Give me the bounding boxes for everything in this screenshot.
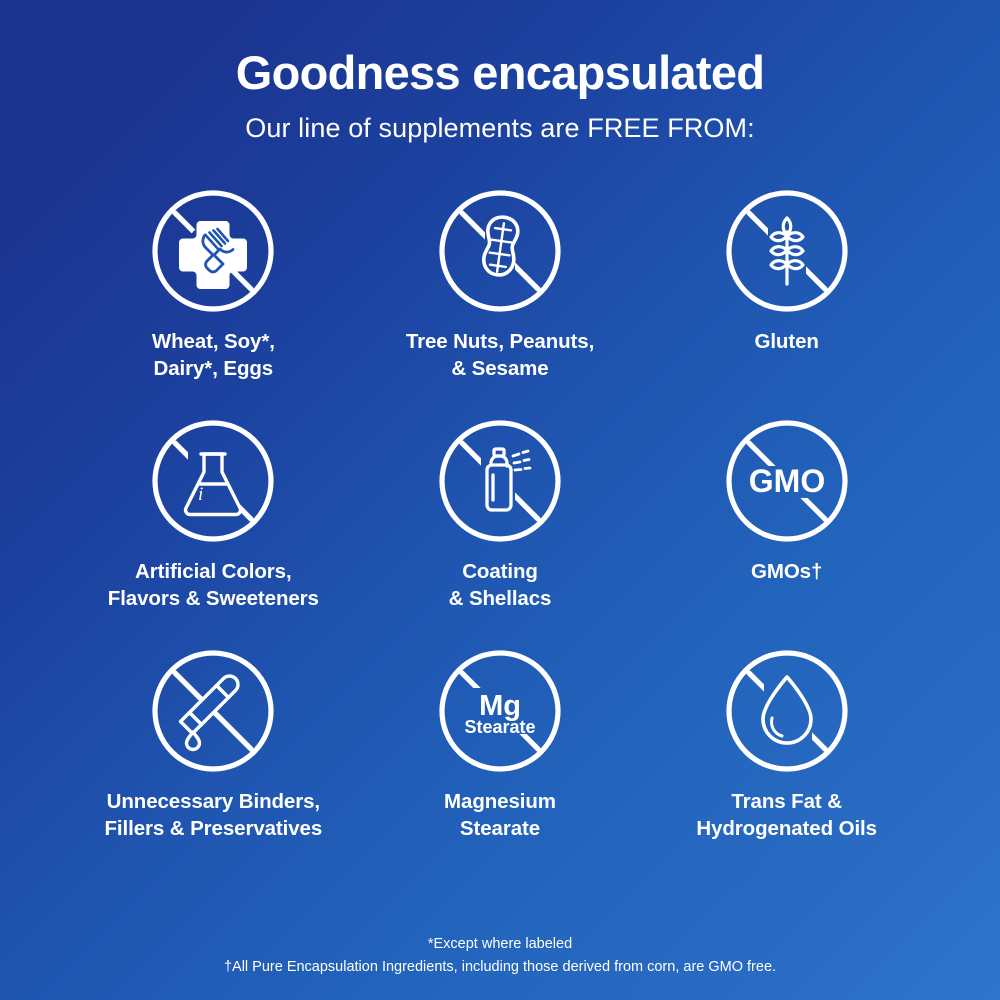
grid-item-artificial: i Artificial Colors, Flavors & Sweetener… xyxy=(70,418,357,648)
no-mg-stearate-text-icon: Mg Stearate xyxy=(437,648,563,774)
grid-item-binders: Unnecessary Binders, Fillers & Preservat… xyxy=(70,648,357,878)
no-peanut-icon xyxy=(437,188,563,314)
grid-item-allergens: Wheat, Soy*, Dairy*, Eggs xyxy=(70,188,357,418)
no-spray-can-icon xyxy=(437,418,563,544)
footnote-asterisk: *Except where labeled xyxy=(0,933,1000,955)
grid-item-label: Artificial Colors, Flavors & Sweeteners xyxy=(108,558,319,612)
gmo-icon-text: GMO xyxy=(748,463,824,499)
svg-text:i: i xyxy=(198,484,203,505)
no-gmo-text-icon: GMO xyxy=(724,418,850,544)
grid-item-gmo: GMO GMOs† xyxy=(643,418,930,648)
grid-item-label: Trans Fat & Hydrogenated Oils xyxy=(696,788,877,842)
promo-page: Goodness encapsulated Our line of supple… xyxy=(0,0,1000,1000)
no-flask-icon: i xyxy=(150,418,276,544)
stearate-icon-text: Stearate xyxy=(464,717,535,737)
no-dropper-icon xyxy=(150,648,276,774)
grid-item-label: Coating & Shellacs xyxy=(449,558,552,612)
grid-item-trans-fat: Trans Fat & Hydrogenated Oils xyxy=(643,648,930,878)
header: Goodness encapsulated Our line of supple… xyxy=(0,0,1000,144)
grid-item-label: GMOs† xyxy=(751,558,822,585)
grid-item-label: Tree Nuts, Peanuts, & Sesame xyxy=(406,328,594,382)
grid-item-nuts: Tree Nuts, Peanuts, & Sesame xyxy=(357,188,644,418)
no-allergen-cross-fork-icon xyxy=(150,188,276,314)
grid-item-label: Magnesium Stearate xyxy=(444,788,556,842)
grid-item-mg-stearate: Mg Stearate Magnesium Stearate xyxy=(357,648,644,878)
grid-item-coating: Coating & Shellacs xyxy=(357,418,644,648)
grid-item-label: Gluten xyxy=(754,328,818,355)
grid-item-label: Wheat, Soy*, Dairy*, Eggs xyxy=(152,328,275,382)
grid-item-label: Unnecessary Binders, Fillers & Preservat… xyxy=(105,788,323,842)
footnotes: *Except where labeled †All Pure Encapsul… xyxy=(0,933,1000,978)
no-oil-droplet-icon xyxy=(724,648,850,774)
page-title: Goodness encapsulated xyxy=(0,48,1000,99)
no-wheat-stalk-icon xyxy=(724,188,850,314)
free-from-grid: Wheat, Soy*, Dairy*, Eggs xyxy=(70,188,930,878)
page-subtitle: Our line of supplements are FREE FROM: xyxy=(0,113,1000,144)
grid-item-gluten: Gluten xyxy=(643,188,930,418)
footnote-dagger: †All Pure Encapsulation Ingredients, inc… xyxy=(0,956,1000,978)
